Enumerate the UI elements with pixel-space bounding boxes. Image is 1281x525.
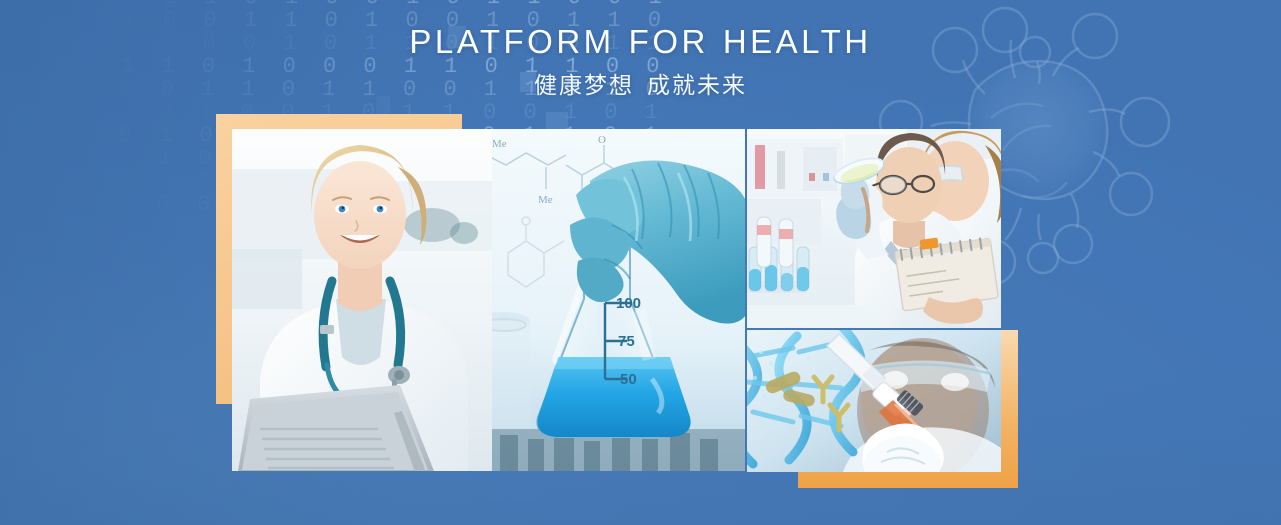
svg-text:O: O	[598, 134, 606, 146]
photo-dna	[747, 330, 1001, 472]
svg-text:50: 50	[620, 371, 637, 388]
svg-text:75: 75	[618, 333, 635, 350]
photo-researchers	[747, 129, 1001, 328]
svg-text:100: 100	[616, 295, 641, 312]
photo-flask: Me Me O OH O	[492, 129, 745, 471]
svg-text:Me: Me	[538, 194, 553, 206]
photo-doctor	[232, 129, 494, 471]
photo-collage: Me Me O OH O	[0, 0, 1281, 525]
health-platform-banner: 0 1 1 0 1 0 0 1 0 1 1 0 0 1 0 1 1 1 0 0 …	[0, 0, 1281, 525]
svg-text:Me: Me	[492, 138, 507, 150]
